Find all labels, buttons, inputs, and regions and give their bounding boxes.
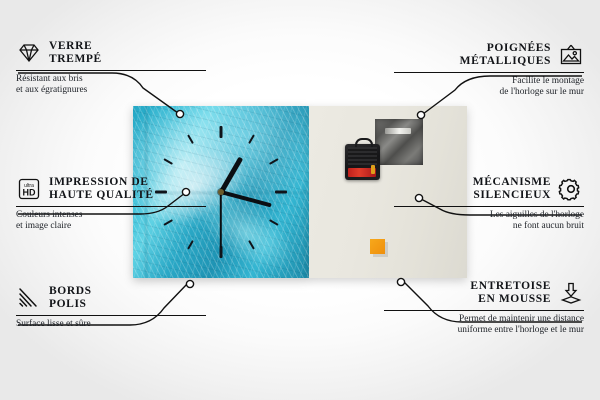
gear-icon	[558, 177, 584, 201]
feature-entretoise-en-mousse: ENTRETOISE EN MOUSSE Permet de maintenir…	[384, 280, 584, 337]
feature-title: ENTRETOISE EN MOUSSE	[470, 280, 551, 306]
hour-tick	[275, 191, 287, 194]
feature-verre-trempe: VERRE TREMPÉ Résistant aux bris et aux é…	[16, 40, 206, 97]
hour-tick	[269, 158, 279, 165]
feature-header: POIGNÉES MÉTALLIQUES	[394, 42, 584, 68]
svg-text:HD: HD	[23, 188, 36, 198]
divider	[16, 70, 206, 71]
diamond-icon	[16, 41, 42, 65]
feature-title: POIGNÉES MÉTALLIQUES	[460, 42, 551, 68]
hour-tick	[248, 134, 255, 144]
feature-mecanisme-silencieux: MÉCANISME SILENCIEUX Les aiguilles de l'…	[394, 176, 584, 233]
divider	[384, 310, 584, 311]
ultra-hd-icon: ultra HD	[16, 177, 42, 201]
hour-tick	[220, 126, 223, 138]
divider	[16, 315, 206, 316]
feature-description: Facilite le montage de l'horloge sur le …	[394, 76, 584, 99]
hand-center-cap	[218, 189, 224, 195]
feature-header: BORDS POLIS	[16, 285, 206, 311]
mechanism-housing	[348, 147, 377, 165]
feature-title: BORDS POLIS	[49, 285, 92, 311]
feature-header: ENTRETOISE EN MOUSSE	[384, 280, 584, 306]
hour-hand	[219, 156, 243, 193]
feature-description: Surface lisse et sûre	[16, 319, 206, 330]
minute-hand	[220, 190, 271, 207]
press-down-icon	[558, 281, 584, 305]
hour-tick	[248, 240, 255, 250]
feature-impression-haute-qualite: ultra HD IMPRESSION DE HAUTE QUALITÉ Cou…	[16, 176, 206, 233]
battery	[348, 168, 376, 177]
feature-bords-polis: BORDS POLIS Surface lisse et sûre	[16, 285, 206, 330]
feature-header: VERRE TREMPÉ	[16, 40, 206, 66]
divider	[394, 206, 584, 207]
feature-poignees-metalliques: POIGNÉES MÉTALLIQUES Facilite le montage…	[394, 42, 584, 99]
foam-spacer	[370, 239, 385, 254]
feature-description: Couleurs intenses et image claire	[16, 210, 206, 233]
feature-header: MÉCANISME SILENCIEUX	[394, 176, 584, 202]
hour-tick	[220, 246, 223, 258]
divider	[394, 72, 584, 73]
feature-description: Permet de maintenir une distance uniform…	[384, 314, 584, 337]
feature-description: Les aiguilles de l'horloge ne font aucun…	[394, 210, 584, 233]
hour-tick	[163, 158, 173, 165]
feature-header: ultra HD IMPRESSION DE HAUTE QUALITÉ	[16, 176, 206, 202]
hour-tick	[269, 219, 279, 226]
infographic-canvas: VERRE TREMPÉ Résistant aux bris et aux é…	[0, 0, 600, 400]
feature-title: IMPRESSION DE HAUTE QUALITÉ	[49, 176, 154, 202]
clock-mechanism	[345, 144, 380, 180]
divider	[16, 206, 206, 207]
hour-tick	[187, 134, 194, 144]
hatched-edge-icon	[16, 286, 42, 310]
feature-title: MÉCANISME SILENCIEUX	[473, 176, 551, 202]
hour-tick	[187, 240, 194, 250]
hanger-slot	[385, 128, 411, 134]
battery-terminal	[371, 165, 375, 174]
hanger-plate	[375, 119, 423, 165]
feature-description: Résistant aux bris et aux égratignures	[16, 74, 206, 97]
second-hand	[220, 192, 222, 248]
feature-title: VERRE TREMPÉ	[49, 40, 102, 66]
picture-frame-icon	[558, 43, 584, 67]
